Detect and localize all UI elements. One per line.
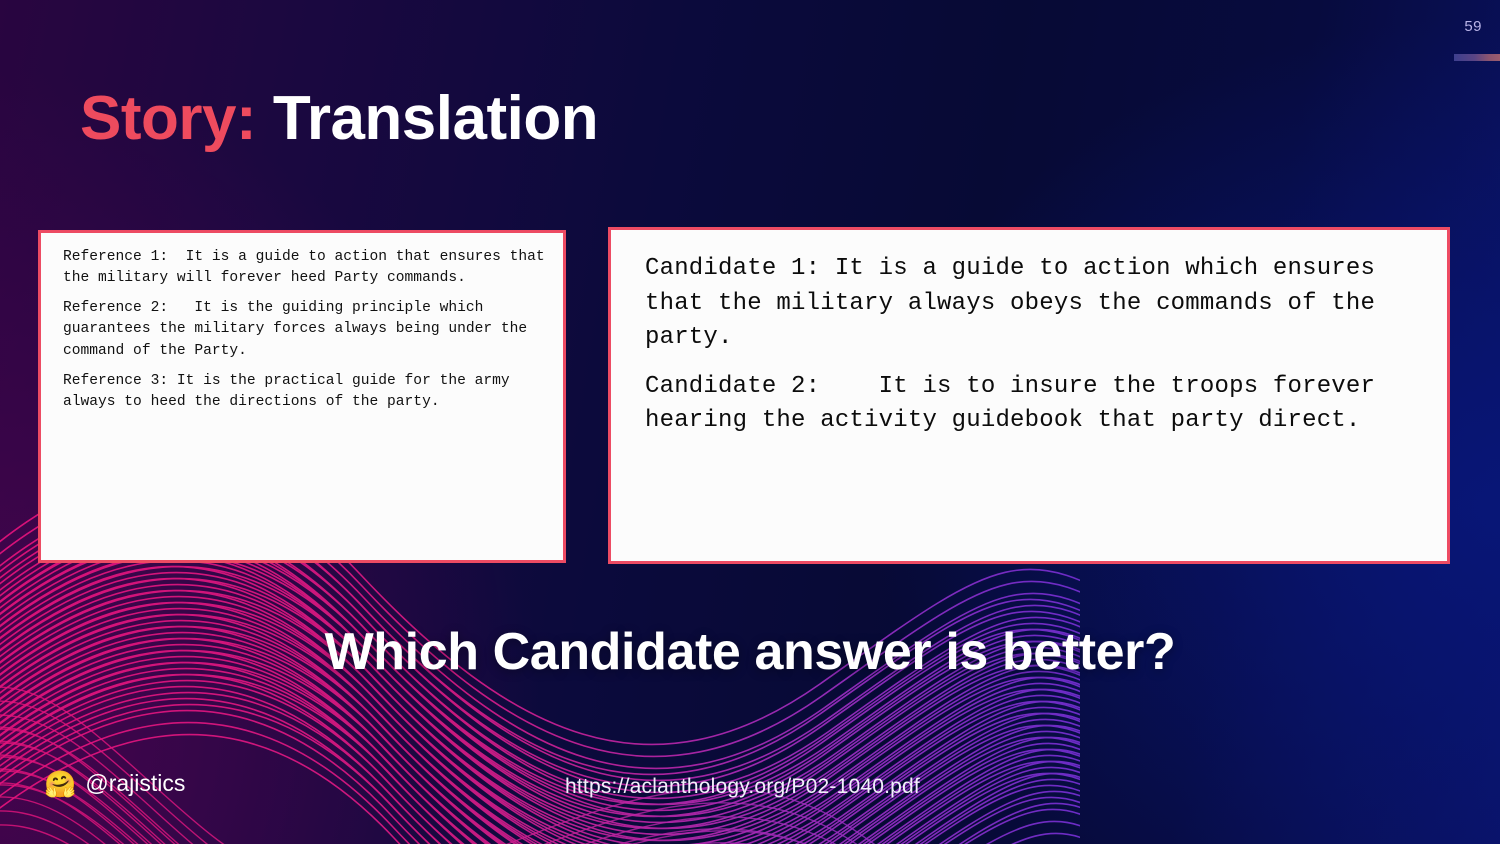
page-number: 59 — [1464, 18, 1482, 35]
candidates-figure: Candidate 1: It is a guide to action whi… — [608, 227, 1450, 564]
author-handle: 🤗 @rajistics — [44, 770, 185, 797]
page-title-accent: Story: — [80, 84, 256, 153]
candidate-paragraph-2: Candidate 2: It is to insure the troops … — [645, 370, 1423, 439]
references-figure: Reference 1: It is a guide to action tha… — [38, 230, 566, 563]
reference-paragraph-3: Reference 3: It is the practical guide f… — [63, 371, 545, 413]
question-heading: Which Candidate answer is better? — [0, 622, 1500, 682]
source-url[interactable]: https://aclanthology.org/P02-1040.pdf — [565, 775, 920, 799]
candidate-paragraph-1: Candidate 1: It is a guide to action whi… — [645, 252, 1423, 356]
reference-paragraph-2: Reference 2: It is the guiding principle… — [63, 298, 545, 361]
slide-root: 59 Story: Translation Reference 1: It is… — [0, 0, 1500, 844]
hugging-face-emoji-icon: 🤗 — [44, 771, 76, 797]
reference-paragraph-1: Reference 1: It is a guide to action tha… — [63, 247, 545, 289]
page-title: Story: Translation — [80, 86, 598, 151]
author-handle-label: @rajistics — [85, 770, 185, 797]
page-title-main: Translation — [273, 84, 598, 153]
page-accent-bar — [1454, 54, 1500, 61]
